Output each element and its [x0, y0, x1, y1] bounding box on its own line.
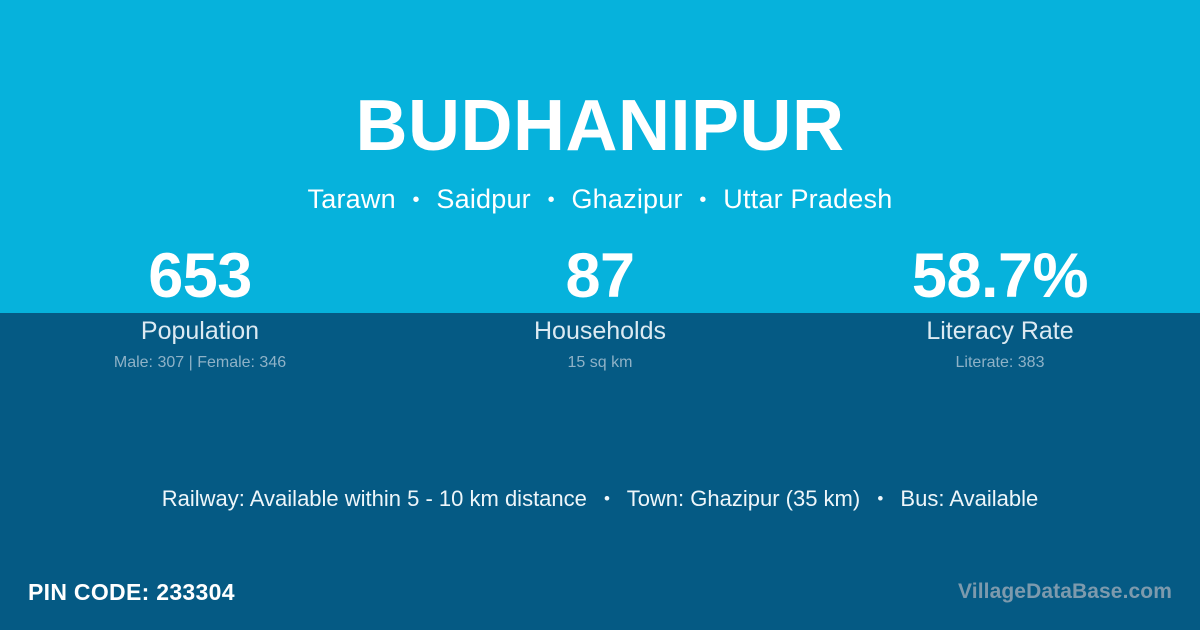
stat-value: 58.7% — [800, 240, 1200, 312]
page-title: BUDHANIPUR — [0, 84, 1200, 168]
site-watermark: VillageDataBase.com — [958, 579, 1172, 605]
breadcrumb-part-state: Uttar Pradesh — [723, 184, 892, 214]
footer: PIN CODE: 233304 VillageDataBase.com — [0, 572, 1200, 612]
stat-label: Households — [400, 316, 800, 346]
pin-code: PIN CODE: 233304 — [28, 578, 235, 606]
stat-value: 87 — [400, 240, 800, 312]
stat-value: 653 — [0, 240, 400, 312]
infrastructure-item-bus: Bus: Available — [900, 486, 1038, 511]
village-info-card: BUDHANIPUR Tarawn • Saidpur • Ghazipur •… — [0, 0, 1200, 630]
breadcrumb-separator-icon: • — [404, 183, 429, 217]
stat-sub-detail: Literate: 383 — [800, 353, 1200, 373]
stat-label: Population — [0, 316, 400, 346]
breadcrumb-separator-icon: • — [539, 183, 564, 217]
breadcrumb-part-village: Tarawn — [308, 184, 396, 214]
stat-sub-detail: Male: 307 | Female: 346 — [0, 353, 400, 373]
stat-literacy-rate: 58.7% Literacy Rate Literate: 383 — [800, 240, 1200, 373]
stat-sub-detail: 15 sq km — [400, 353, 800, 373]
infrastructure-summary: Railway: Available within 5 - 10 km dist… — [0, 484, 1200, 516]
breadcrumb-separator-icon: • — [690, 183, 715, 217]
stat-households: 87 Households 15 sq km — [400, 240, 800, 373]
breadcrumb: Tarawn • Saidpur • Ghazipur • Uttar Prad… — [0, 182, 1200, 219]
stat-population: 653 Population Male: 307 | Female: 346 — [0, 240, 400, 373]
breadcrumb-part-block: Saidpur — [436, 184, 530, 214]
infrastructure-item-railway: Railway: Available within 5 - 10 km dist… — [162, 486, 587, 511]
infrastructure-separator-icon: • — [593, 484, 621, 514]
infrastructure-separator-icon: • — [866, 484, 894, 514]
breadcrumb-part-district: Ghazipur — [571, 184, 682, 214]
infrastructure-item-town: Town: Ghazipur (35 km) — [627, 486, 861, 511]
stat-label: Literacy Rate — [800, 316, 1200, 346]
stats-row: 653 Population Male: 307 | Female: 346 8… — [0, 240, 1200, 373]
